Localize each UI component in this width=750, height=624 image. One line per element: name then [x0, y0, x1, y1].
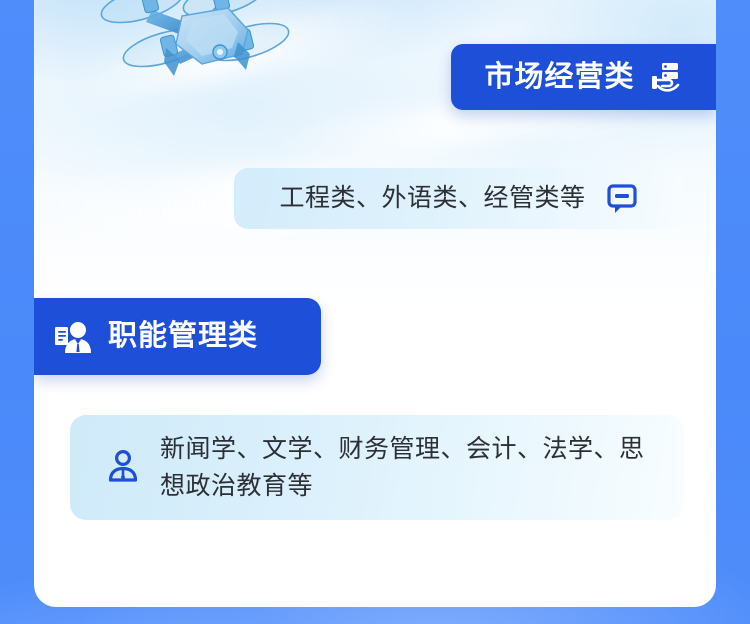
content-card: 市场经营类 工程类、外语类、经管类 — [34, 0, 716, 607]
category-banner-market[interactable]: 市场经营类 — [451, 44, 716, 110]
category-banner-function-label: 职能管理类 — [108, 322, 258, 351]
hand-holding-goods-icon — [649, 60, 683, 94]
category-detail-pill-market[interactable]: 工程类、外语类、经管类等 — [234, 168, 683, 229]
manager-person-icon — [54, 318, 92, 356]
category-banner-function[interactable]: 职能管理类 — [34, 298, 321, 375]
page-root: 市场经营类 工程类、外语类、经管类 — [0, 0, 750, 624]
category-detail-market-label: 工程类、外语类、经管类等 — [279, 186, 585, 211]
category-detail-pill-function[interactable]: 新闻学、文学、财务管理、会计、法学、思想政治教育等 — [70, 415, 684, 520]
drone-illustration — [96, 0, 316, 110]
message-bubble-icon — [606, 183, 638, 215]
category-banner-market-label: 市场经营类 — [484, 63, 634, 92]
person-icon — [106, 449, 140, 483]
category-detail-function-label: 新闻学、文学、财务管理、会计、法学、思想政治教育等 — [160, 431, 660, 504]
